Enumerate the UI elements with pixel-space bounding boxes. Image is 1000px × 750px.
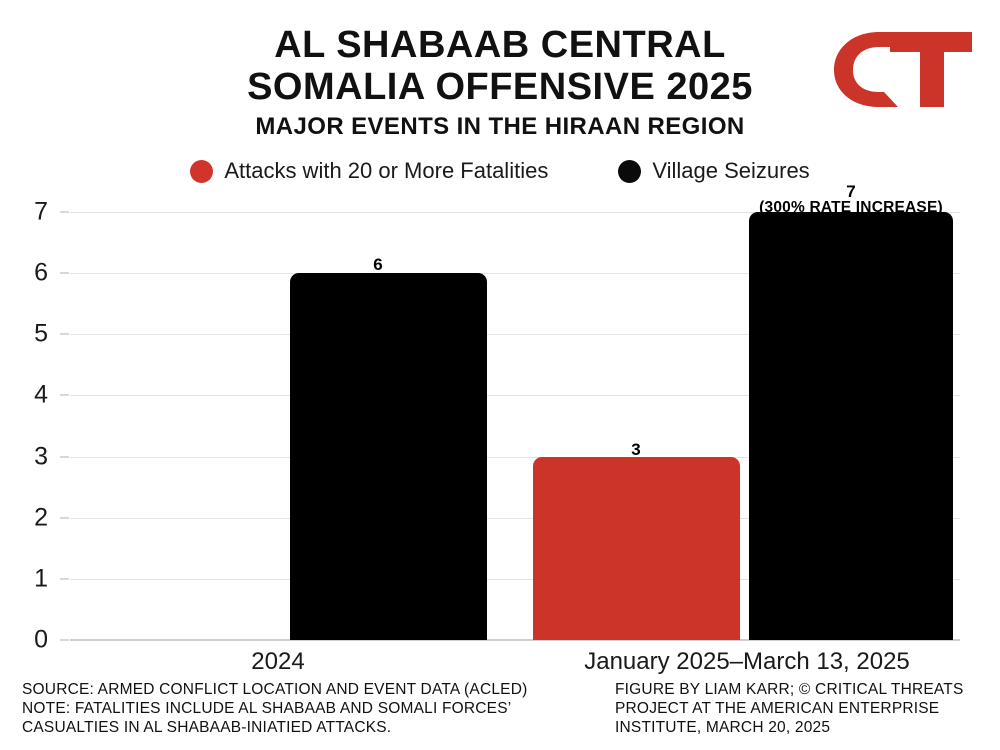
y-tick-mark-1 — [60, 578, 69, 580]
chart-subtitle: MAJOR EVENTS IN THE HIRAAN REGION — [0, 111, 1000, 143]
critical-threats-logo-icon — [824, 26, 982, 110]
y-tick-label-3: 3 — [34, 443, 48, 472]
footer-credit-line-3: INSTITUTE, MARCH 20, 2025 — [615, 718, 995, 737]
bar-2024-village-seizures[interactable] — [290, 273, 487, 640]
legend-label-attacks: Attacks with 20 or More Fatalities — [224, 158, 548, 184]
bar-jan2025-village-seizures[interactable] — [749, 212, 953, 640]
footer-credit: FIGURE BY LIAM KARR; © CRITICAL THREATS … — [615, 680, 995, 737]
y-tick-label-1: 1 — [34, 565, 48, 594]
circle-red-icon — [190, 160, 213, 183]
footer-credit-line-1: FIGURE BY LIAM KARR; © CRITICAL THREATS — [615, 680, 995, 699]
footer-source-line: SOURCE: ARMED CONFLICT LOCATION AND EVEN… — [22, 680, 602, 699]
chart-legend: Attacks with 20 or More Fatalities Villa… — [0, 158, 1000, 184]
y-tick-label-7: 7 — [34, 198, 48, 227]
x-tick-label-2024: 2024 — [251, 648, 304, 676]
legend-label-village-seizures: Village Seizures — [652, 158, 809, 184]
y-tick-mark-0 — [60, 639, 69, 641]
bar-value-label-6: 6 — [373, 255, 382, 275]
footer-note-line-1: NOTE: FATALITIES INCLUDE AL SHABAAB AND … — [22, 699, 602, 718]
y-tick-mark-7 — [60, 211, 69, 213]
y-tick-mark-2 — [60, 517, 69, 519]
y-tick-mark-6 — [60, 272, 69, 274]
circle-black-icon — [618, 160, 641, 183]
bar-value-label-3: 3 — [631, 440, 640, 460]
legend-item-attacks[interactable]: Attacks with 20 or More Fatalities — [190, 158, 548, 184]
y-tick-mark-5 — [60, 333, 69, 335]
y-tick-label-5: 5 — [34, 320, 48, 349]
y-tick-mark-4 — [60, 394, 69, 396]
legend-item-village-seizures[interactable]: Village Seizures — [618, 158, 809, 184]
footer-credit-line-2: PROJECT AT THE AMERICAN ENTERPRISE — [615, 699, 995, 718]
bar-jan2025-attacks[interactable] — [533, 457, 740, 640]
plot-area — [70, 212, 960, 640]
y-tick-label-4: 4 — [34, 381, 48, 410]
chart-page: AL SHABAAB CENTRAL SOMALIA OFFENSIVE 202… — [0, 0, 1000, 750]
footer-note-line-2: CASUALTIES IN AL SHABAAB-INIATIED ATTACK… — [22, 718, 602, 737]
y-tick-label-0: 0 — [34, 626, 48, 655]
bar-annotation-rate-increase: (300% RATE INCREASE) — [759, 199, 943, 217]
chart-footer: SOURCE: ARMED CONFLICT LOCATION AND EVEN… — [0, 680, 1000, 750]
y-axis: 7 6 5 4 3 2 1 0 — [0, 0, 70, 750]
y-tick-label-6: 6 — [34, 259, 48, 288]
footer-source-note: SOURCE: ARMED CONFLICT LOCATION AND EVEN… — [22, 680, 602, 737]
y-tick-mark-3 — [60, 456, 69, 458]
x-tick-label-jan2025: January 2025–March 13, 2025 — [584, 648, 910, 676]
y-tick-label-2: 2 — [34, 504, 48, 533]
